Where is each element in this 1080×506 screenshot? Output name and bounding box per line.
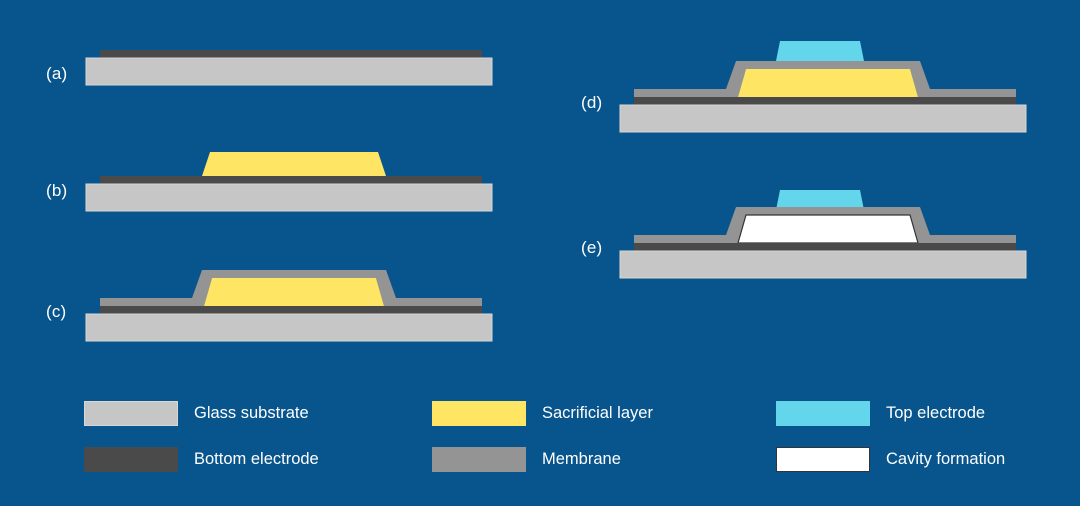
sacrificial-layer-trapezoid [738, 69, 918, 97]
glass-substrate-layer [620, 105, 1026, 132]
panel-label-d: (d) [581, 93, 602, 113]
legend-label-cavity-formation: Cavity formation [886, 450, 1005, 469]
legend-label-bottom-electrode: Bottom electrode [194, 450, 319, 469]
panel-e-cross-section [620, 185, 1030, 275]
legend-item-glass-substrate: Glass substrate [84, 390, 319, 436]
glass-substrate-layer [86, 58, 492, 85]
legend-column-2: Sacrificial layer Membrane [432, 390, 653, 482]
sacrificial-layer-trapezoid [202, 152, 386, 176]
panel-label-b: (b) [46, 181, 67, 201]
legend-column-3: Top electrode Cavity formation [776, 390, 1005, 482]
legend-item-sacrificial-layer: Sacrificial layer [432, 390, 653, 436]
panel-label-a: (a) [46, 64, 67, 84]
bottom-electrode-layer [634, 97, 1016, 105]
glass-substrate-layer [86, 314, 492, 341]
legend-item-top-electrode: Top electrode [776, 390, 1005, 436]
legend: Glass substrate Bottom electrode Sacrifi… [84, 390, 1034, 480]
glass-substrate-layer [620, 251, 1026, 278]
swatch-membrane [432, 447, 526, 472]
legend-label-glass-substrate: Glass substrate [194, 404, 309, 423]
bottom-electrode-layer [100, 176, 482, 184]
legend-label-membrane: Membrane [542, 450, 621, 469]
cavity-void [738, 215, 918, 243]
swatch-cavity-formation [776, 447, 870, 472]
bottom-electrode-layer [634, 243, 1016, 251]
legend-item-membrane: Membrane [432, 436, 653, 482]
legend-column-1: Glass substrate Bottom electrode [84, 390, 319, 482]
legend-label-top-electrode: Top electrode [886, 404, 985, 423]
panel-b-cross-section [86, 148, 496, 218]
swatch-top-electrode [776, 401, 870, 426]
panel-a-cross-section [86, 50, 496, 100]
panel-d-cross-section [620, 36, 1030, 126]
legend-item-cavity-formation: Cavity formation [776, 436, 1005, 482]
bottom-electrode-layer [100, 50, 482, 58]
swatch-glass-substrate [84, 401, 178, 426]
legend-item-bottom-electrode: Bottom electrode [84, 436, 319, 482]
sacrificial-layer-trapezoid [204, 278, 384, 306]
glass-substrate-layer [86, 184, 492, 211]
panel-label-e: (e) [581, 238, 602, 258]
panel-label-c: (c) [46, 302, 66, 322]
swatch-sacrificial-layer [432, 401, 526, 426]
swatch-bottom-electrode [84, 447, 178, 472]
top-electrode-trapezoid [776, 41, 864, 61]
panel-c-cross-section [86, 265, 496, 343]
process-flow-figure: (a) (b) (c) (d) (e) [0, 0, 1080, 506]
bottom-electrode-layer [100, 306, 482, 314]
legend-label-sacrificial-layer: Sacrificial layer [542, 404, 653, 423]
